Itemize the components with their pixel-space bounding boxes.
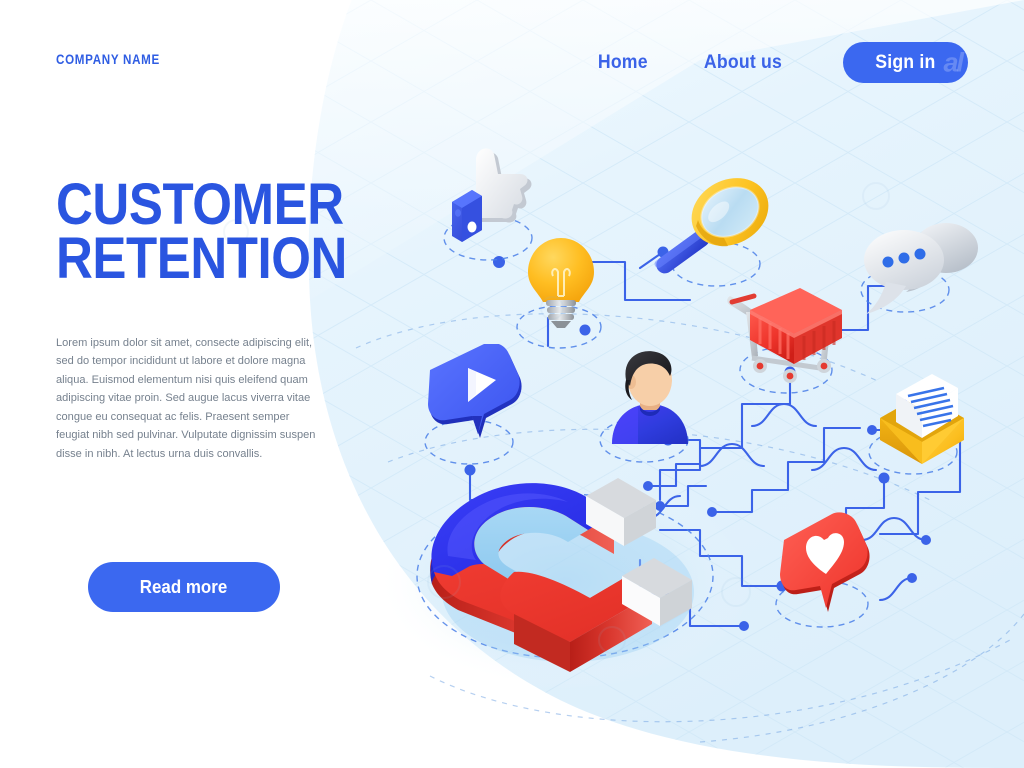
heart-pin-icon (780, 512, 876, 624)
sign-in-button[interactable]: Sign in al (843, 42, 968, 83)
chat-bubbles-icon (862, 212, 980, 320)
mail-envelope-icon (866, 368, 976, 480)
hero-body-text: Lorem ipsum dolor sit amet, consecte adi… (56, 334, 320, 463)
site-header: COMPANY NAME Home About us Sign in al (0, 0, 1024, 110)
hero-copy: CUSTOMER RETENTION Lorem ipsum dolor sit… (56, 178, 356, 463)
brand-company-name: COMPANY NAME (56, 52, 160, 67)
customer-avatar-icon (604, 346, 696, 452)
landing-page: COMPANY NAME Home About us Sign in al CU… (0, 0, 1024, 768)
magnifier-icon (650, 162, 776, 280)
read-more-label: Read more (140, 577, 227, 598)
shopping-cart-icon (724, 282, 848, 390)
page-title: CUSTOMER RETENTION (56, 178, 320, 286)
horseshoe-magnet-icon (418, 460, 728, 680)
lightbulb-icon (524, 234, 598, 334)
nav-link-about-us[interactable]: About us (680, 46, 806, 80)
read-more-button[interactable]: Read more (88, 562, 280, 612)
nav-link-home[interactable]: Home (573, 46, 671, 80)
sign-in-label: Sign in (876, 52, 936, 74)
video-bubble-icon (424, 344, 526, 456)
primary-nav: Home About us Sign in al (570, 42, 968, 83)
watermark-glyph: al (943, 47, 962, 78)
